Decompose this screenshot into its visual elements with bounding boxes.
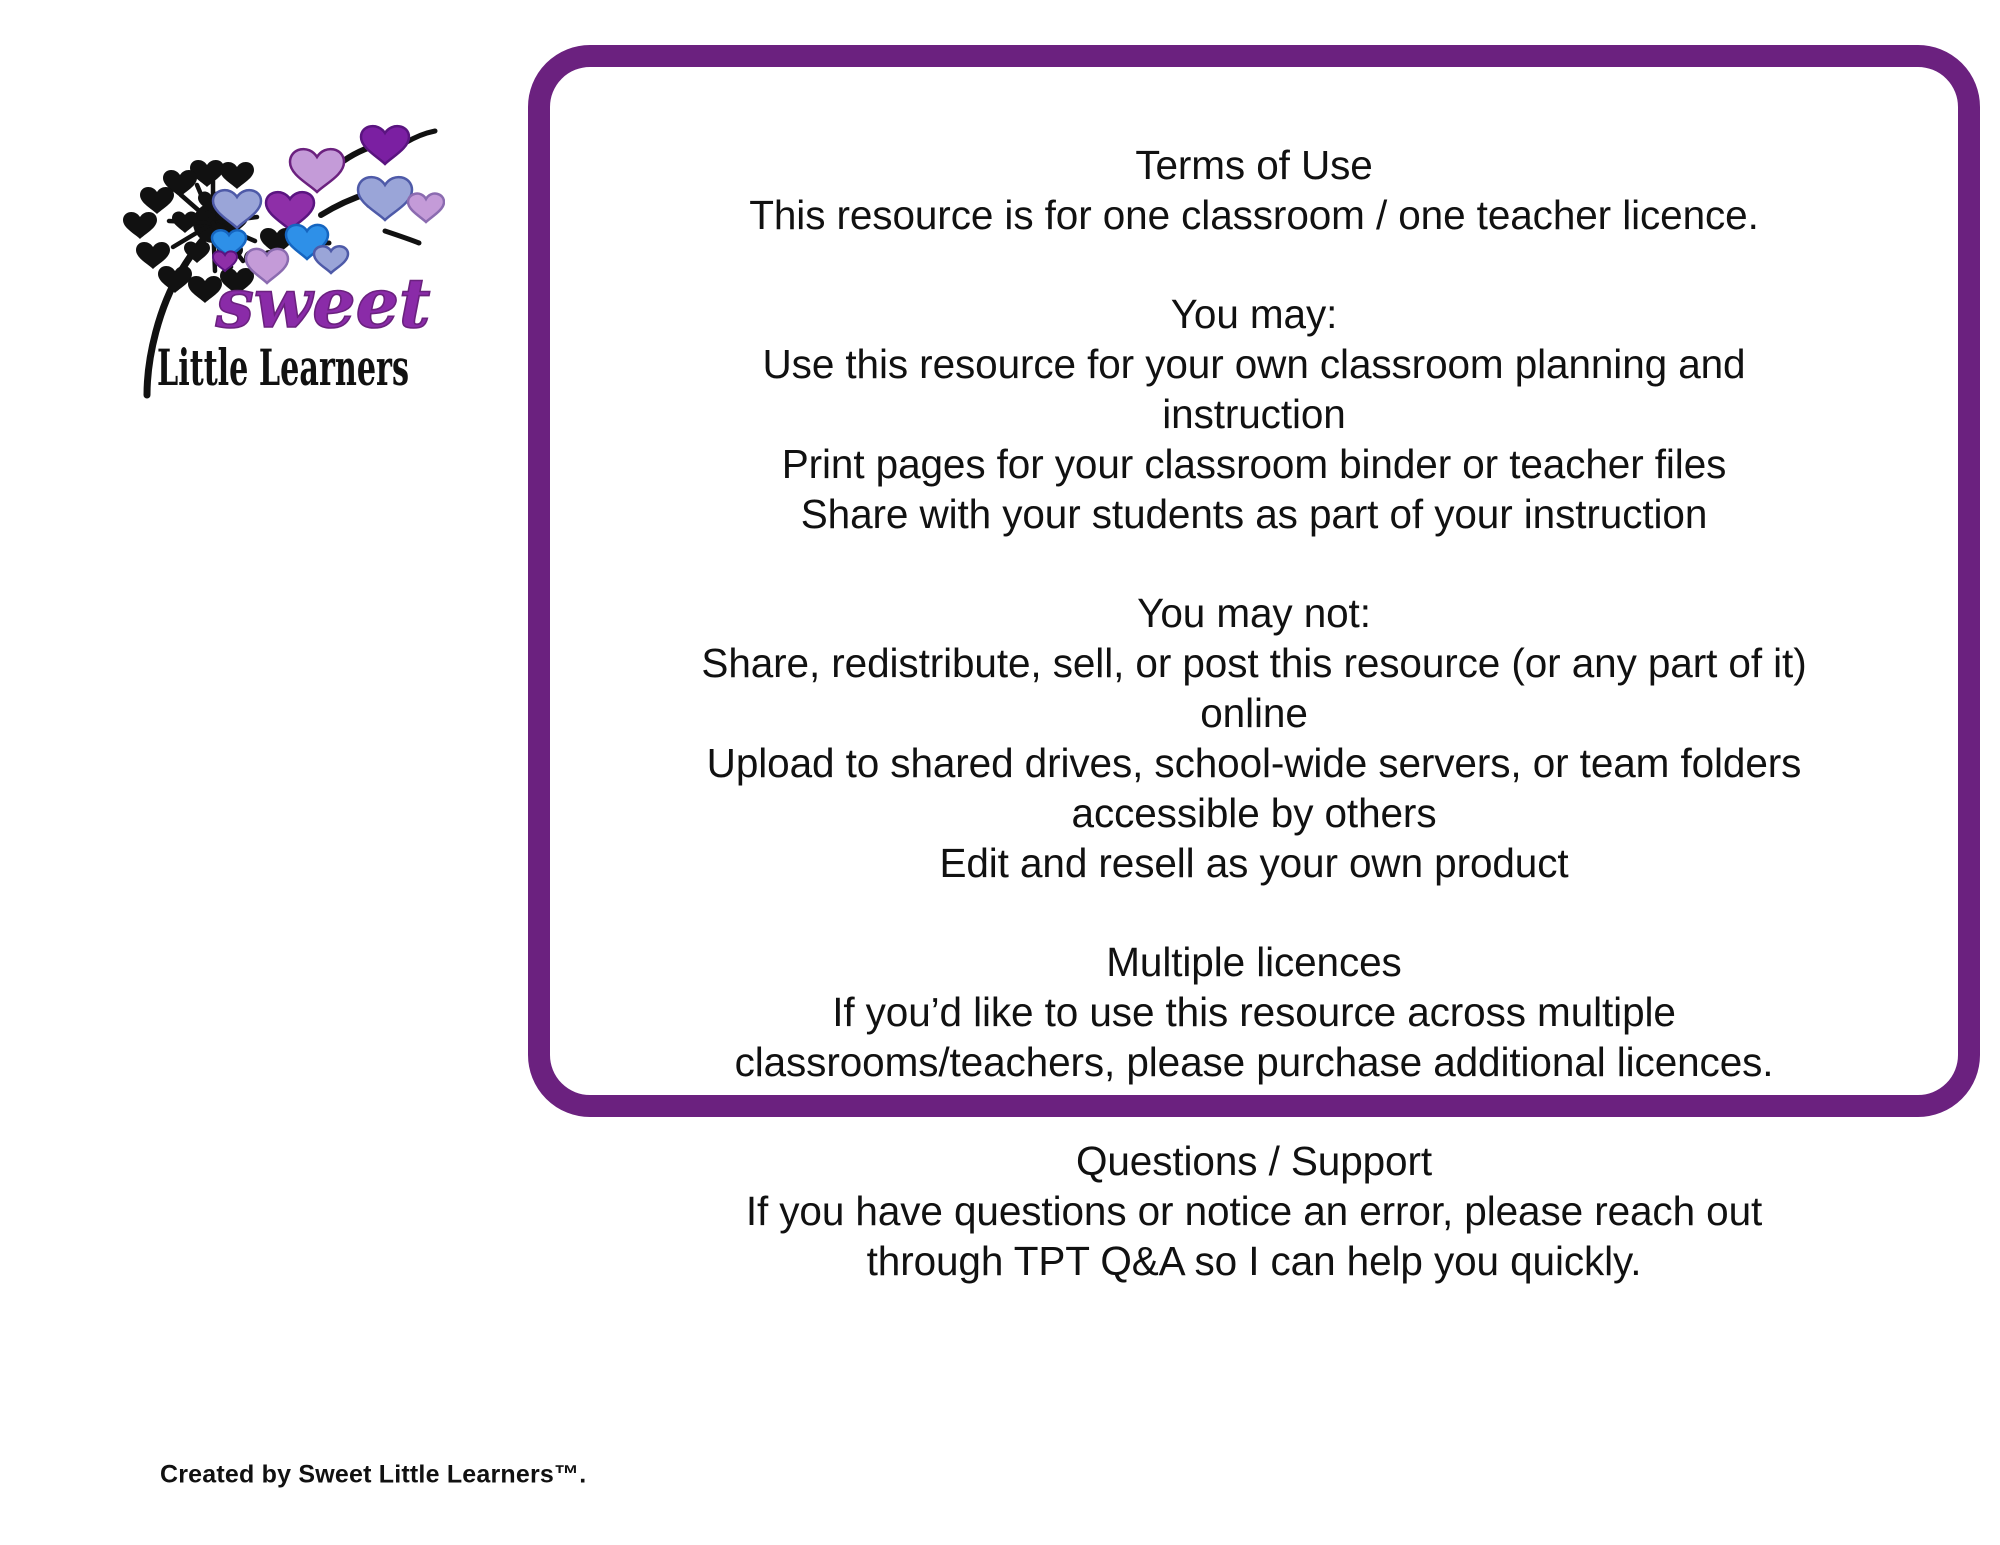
you-may-not-line-1: Share, redistribute, sell, or post this … — [694, 643, 1814, 684]
you-may-line-4: Share with your students as part of your… — [694, 494, 1814, 535]
you-may-not-line-4: accessible by others — [694, 793, 1814, 834]
you-may-line-2: instruction — [694, 394, 1814, 435]
you-may-not-line-5: Edit and resell as your own product — [694, 843, 1814, 884]
you-may-title: You may: — [694, 294, 1814, 335]
footer-credit-text: Created by Sweet Little Learners™. — [160, 1461, 586, 1490]
terms-heading: Terms of Use — [694, 145, 1814, 186]
logo-bold-words: Little Learners — [157, 338, 409, 397]
questions-support-line-1: If you have questions or notice an error… — [694, 1191, 1814, 1232]
section-gap-3 — [694, 893, 1814, 942]
terms-subheading: This resource is for one classroom / one… — [694, 195, 1814, 236]
section-gap-1 — [694, 245, 1814, 294]
questions-support-line-2: through TPT Q&A so I can help you quickl… — [694, 1241, 1814, 1282]
you-may-line-1: Use this resource for your own classroom… — [694, 344, 1814, 385]
terms-of-use-text: Terms of Use This resource is for one cl… — [694, 145, 1814, 1291]
section-gap-4 — [694, 1092, 1814, 1141]
questions-support-title: Questions / Support — [694, 1141, 1814, 1182]
logo-artwork: sweet Little Learners — [85, 95, 445, 405]
you-may-not-line-3: Upload to shared drives, school-wide ser… — [694, 743, 1814, 784]
multiple-licences-line-2: classrooms/teachers, please purchase add… — [694, 1042, 1814, 1083]
section-gap-2 — [694, 544, 1814, 593]
multiple-licences-line-1: If you’d like to use this resource acros… — [694, 992, 1814, 1033]
multiple-licences-title: Multiple licences — [694, 942, 1814, 983]
brand-logo: sweet Little Learners — [85, 95, 445, 405]
you-may-line-3: Print pages for your classroom binder or… — [694, 444, 1814, 485]
terms-of-use-card: Terms of Use This resource is for one cl… — [528, 45, 1980, 1117]
you-may-not-title: You may not: — [694, 593, 1814, 634]
flying-hearts-icon — [212, 126, 444, 283]
you-may-not-line-2: online — [694, 693, 1814, 734]
logo-script-word: sweet — [215, 264, 431, 344]
